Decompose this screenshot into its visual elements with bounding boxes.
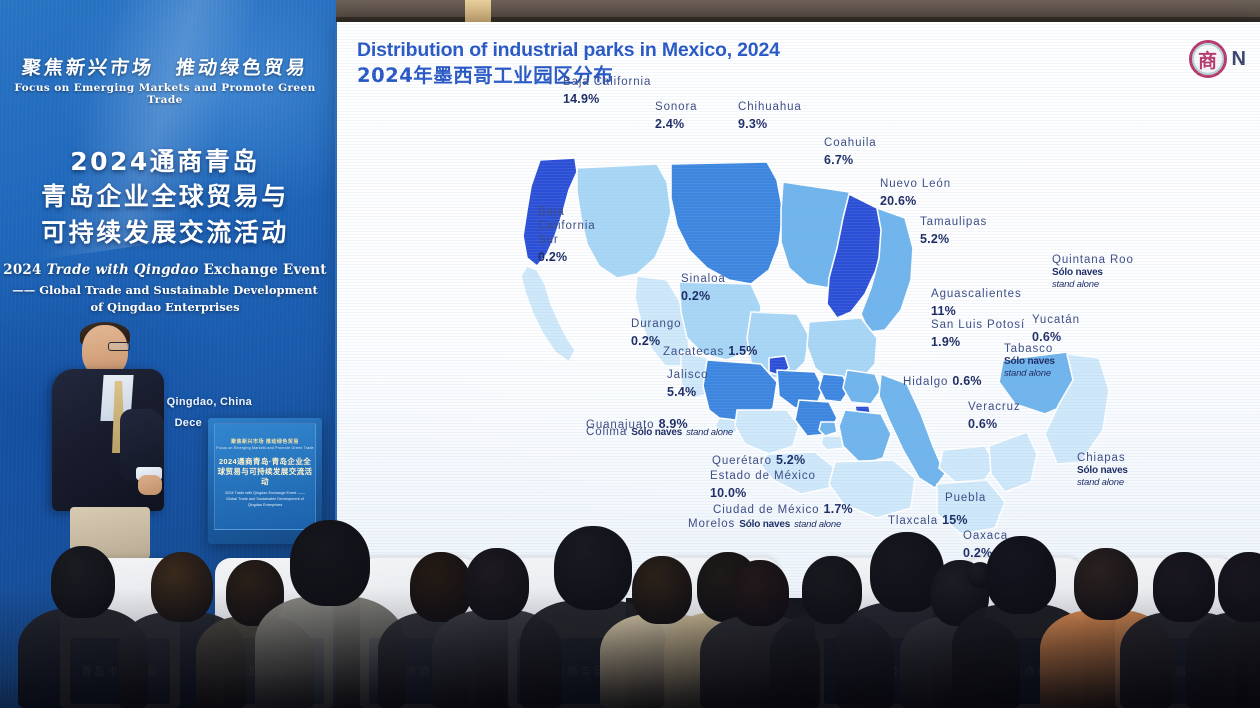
region-name: Nuevo León [880, 177, 951, 191]
region-name: Tabasco [1004, 342, 1055, 356]
audience-rows: 青岛市商务局青岛市商务局青岛市商务局青岛市商务局青岛市商务局青岛市商务局青岛市商… [0, 498, 1260, 708]
speaker-hand [138, 475, 162, 495]
stand-alone-es: Sólo naves [631, 427, 682, 438]
map-label-chihuahua: Chihuahua9.3% [738, 100, 802, 134]
region-value: 20.6% [880, 194, 916, 208]
map-label-quintana-roo: Quintana RooSólo navesstand alone [1052, 253, 1134, 291]
map-label-tabasco: TabascoSólo navesstand alone [1004, 342, 1055, 380]
region-value: 6.7% [824, 153, 853, 167]
region-value: 5.2% [920, 232, 949, 246]
region-value: 0.2% [631, 334, 660, 348]
region-value: 9.3% [738, 117, 767, 131]
stand-alone-es: Sólo naves [1004, 356, 1055, 368]
stand-alone-es: Sólo naves [1077, 465, 1128, 477]
region-value: 14.9% [563, 92, 599, 106]
region-value: 5.2% [776, 453, 805, 467]
poster-date-en: Dece [175, 417, 203, 429]
region-name: Chiapas [1077, 451, 1128, 465]
screenshot-root: 聚焦新兴市场 推动绿色贸易 Focus on Emerging Markets … [0, 0, 1260, 708]
poster-subtitle-italic: Trade with Qingdao [47, 262, 199, 278]
poster-title-line-2: 青岛企业全球贸易与 [0, 179, 330, 215]
poster-subtitle-pre: 2024 [3, 262, 46, 278]
map-label-coahuila: Coahuila6.7% [824, 136, 877, 170]
stand-alone-en: stand alone [686, 427, 733, 438]
stand-alone-en: stand alone [1052, 279, 1134, 291]
region-value: 11% [931, 304, 956, 318]
poster-location-en: Qingdao, China [167, 396, 252, 408]
poster-title-line-3: 可持续发展交流活动 [0, 215, 330, 251]
region-name: Coahuila [824, 136, 877, 150]
region-name: Jalisco [667, 368, 708, 382]
poster-title: 2024通商青岛 青岛企业全球贸易与 可持续发展交流活动 [0, 144, 330, 251]
region-name: Baja California Sur [538, 205, 608, 247]
poster-subtitle-detail-line-1: —— Global Trade and Sustainable Developm… [0, 282, 330, 299]
region-name: Hidalgo [903, 376, 952, 388]
map-label-chiapas: ChiapasSólo navesstand alone [1077, 451, 1128, 489]
region-name: Veracruz [968, 400, 1021, 414]
region-value: 2.4% [655, 117, 684, 131]
audience-member-head [290, 520, 370, 606]
region-name: Yucatán [1032, 313, 1080, 327]
podium-slogan-cn: 聚焦新兴市场 推动绿色贸易 [215, 438, 315, 445]
event-poster: 聚焦新兴市场 推动绿色贸易 Focus on Emerging Markets … [0, 58, 330, 316]
map-label-aguascalientes: Aguascalientes11% [931, 287, 1022, 321]
region-name: Sonora [655, 100, 697, 114]
map-label-zacatecas: Zacatecas 1.5% [663, 341, 758, 361]
poster-subtitle-en: 2024 Trade with Qingdao Exchange Event [0, 262, 330, 278]
map-label-nuevo-le-n: Nuevo León20.6% [880, 177, 951, 211]
audience-member-torso [1186, 612, 1260, 708]
region-value: 0.2% [538, 250, 567, 264]
poster-subtitle-detail-line-2: of Qingdao Enterprises [0, 299, 330, 316]
region-name: Estado de México [710, 469, 816, 483]
stand-alone-en: stand alone [1004, 368, 1055, 380]
region-value: 1.5% [728, 344, 757, 358]
region-name: San Luis Potosí [931, 318, 1025, 332]
region-name: Chihuahua [738, 100, 802, 114]
poster-slogan-cn: 聚焦新兴市场 推动绿色贸易 [0, 58, 331, 79]
region-name: Baja California [563, 75, 651, 89]
poster-subtitle-post: Exchange Event [199, 262, 327, 278]
region-name: Colima [586, 426, 631, 438]
ceiling-pillar [465, 0, 491, 22]
podium-title-cn: 2024通商青岛·青岛企业全球贸易与可持续发展交流活动 [215, 457, 315, 487]
poster-slogan-en: Focus on Emerging Markets and Promote Gr… [0, 82, 330, 106]
audience-member [1186, 542, 1260, 708]
region-name: Tamaulipas [920, 215, 987, 229]
region-value: 5.4% [667, 385, 696, 399]
map-label-colima: Colima Sólo navesstand alone [586, 421, 733, 441]
map-label-baja-california-sur: Baja California Sur0.2% [538, 205, 608, 267]
audience-member-head [1218, 552, 1260, 622]
speaker-glasses [108, 342, 130, 351]
audience-member-head [51, 546, 115, 618]
region-name: Quintana Roo [1052, 253, 1134, 267]
region-name: Sinaloa [681, 272, 726, 286]
map-label-sonora: Sonora2.4% [655, 100, 697, 134]
map-label-hidalgo: Hidalgo 0.6% [903, 371, 982, 391]
podium-slogan-en: Focus on Emerging Markets and Promote Gr… [215, 446, 315, 450]
poster-title-line-1: 2024通商青岛 [0, 144, 330, 180]
poster-subtitle-detail: —— Global Trade and Sustainable Developm… [0, 282, 330, 315]
region-name: Durango [631, 317, 681, 331]
region-value: 0.6% [952, 374, 981, 388]
map-label-quer-taro: Querétaro 5.2% [712, 450, 805, 470]
region-value: 1.9% [931, 335, 960, 349]
region-name: Zacatecas [663, 346, 728, 358]
map-label-baja-california: Baja California14.9% [563, 75, 651, 109]
map-label-jalisco: Jalisco5.4% [667, 368, 708, 402]
map-label-tamaulipas: Tamaulipas5.2% [920, 215, 987, 249]
map-label-veracruz: Veracruz0.6% [968, 400, 1021, 434]
map-label-sinaloa: Sinaloa0.2% [681, 272, 726, 306]
region-value: 0.2% [681, 289, 710, 303]
region-name: Aguascalientes [931, 287, 1022, 301]
stand-alone-es: Sólo naves [1052, 267, 1134, 279]
region-value: 0.6% [968, 417, 997, 431]
region-name: Querétaro [712, 455, 776, 467]
stand-alone-en: stand alone [1077, 477, 1128, 489]
